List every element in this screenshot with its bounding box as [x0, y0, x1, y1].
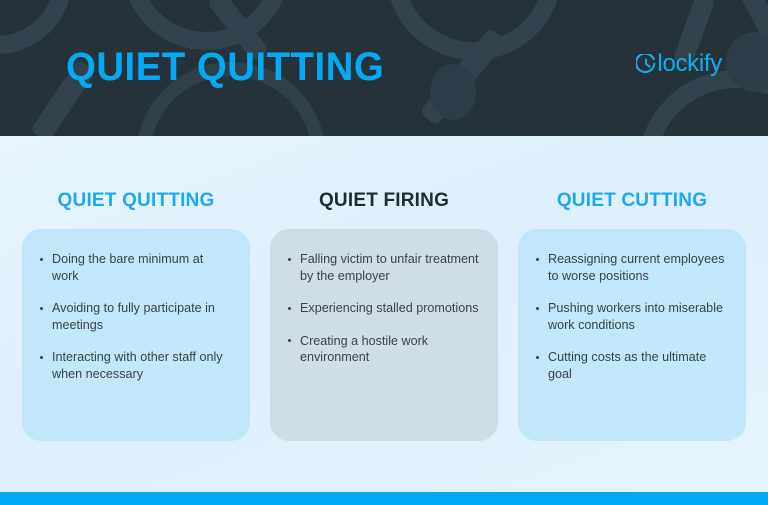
bullet-list-quiet-quitting: Doing the bare minimum at work Avoiding … — [39, 251, 233, 382]
column-title-quiet-firing: QUIET FIRING — [270, 182, 498, 220]
list-item-text: Avoiding to fully participate in meeting… — [52, 301, 215, 332]
list-item: Cutting costs as the ultimate goal — [535, 349, 729, 382]
list-item-text: Reassigning current employees to worse p… — [548, 252, 724, 283]
decor-dot-left — [430, 64, 476, 120]
column-title-quiet-quitting: QUIET QUITTING — [22, 182, 250, 220]
bullet-dot-icon — [288, 258, 291, 261]
list-item: Experiencing stalled promotions — [287, 300, 481, 317]
bullet-dot-icon — [536, 307, 539, 310]
decor-ring-left — [0, 0, 72, 54]
main-content: QUIET QUITTING Doing the bare minimum at… — [0, 136, 768, 492]
bullet-dot-icon — [288, 339, 291, 342]
columns-container: QUIET QUITTING Doing the bare minimum at… — [0, 136, 768, 446]
column-quiet-quitting: QUIET QUITTING Doing the bare minimum at… — [22, 136, 250, 446]
column-title-quiet-cutting: QUIET CUTTING — [518, 182, 746, 220]
list-item: Pushing workers into miserable work cond… — [535, 300, 729, 333]
list-item-text: Pushing workers into miserable work cond… — [548, 301, 723, 332]
bullet-list-quiet-firing: Falling victim to unfair treatment by th… — [287, 251, 481, 366]
card-quiet-quitting: Doing the bare minimum at work Avoiding … — [22, 229, 250, 441]
list-item: Creating a hostile work environment — [287, 333, 481, 366]
clockify-logo-text: lockify — [657, 52, 722, 76]
card-quiet-cutting: Reassigning current employees to worse p… — [518, 229, 746, 441]
list-item-text: Cutting costs as the ultimate goal — [548, 350, 706, 381]
bullet-dot-icon — [40, 356, 43, 359]
bullet-dot-icon — [536, 258, 539, 261]
list-item-text: Falling victim to unfair treatment by th… — [300, 252, 478, 283]
column-quiet-firing: QUIET FIRING Falling victim to unfair tr… — [270, 136, 498, 446]
bullet-dot-icon — [288, 307, 291, 310]
column-quiet-cutting: QUIET CUTTING Reassigning current employ… — [518, 136, 746, 446]
bullet-dot-icon — [536, 356, 539, 359]
list-item-text: Doing the bare minimum at work — [52, 252, 203, 283]
card-quiet-firing: Falling victim to unfair treatment by th… — [270, 229, 498, 441]
list-item-text: Interacting with other staff only when n… — [52, 350, 223, 381]
page-title: QUIET QUITTING — [66, 44, 384, 90]
clockify-logo[interactable]: lockify — [636, 52, 722, 76]
list-item-text: Creating a hostile work environment — [300, 334, 428, 365]
clock-c-icon — [636, 54, 656, 74]
header-banner: QUIET QUITTING lockify — [0, 0, 768, 136]
decor-ring-center-top — [122, 0, 290, 50]
bullet-list-quiet-cutting: Reassigning current employees to worse p… — [535, 251, 729, 382]
list-item: Avoiding to fully participate in meeting… — [39, 300, 233, 333]
bullet-dot-icon — [40, 307, 43, 310]
list-item: Reassigning current employees to worse p… — [535, 251, 729, 284]
list-item: Doing the bare minimum at work — [39, 251, 233, 284]
list-item-text: Experiencing stalled promotions — [300, 301, 479, 315]
list-item: Interacting with other staff only when n… — [39, 349, 233, 382]
footer-accent-bar — [0, 492, 768, 505]
list-item: Falling victim to unfair treatment by th… — [287, 251, 481, 284]
bullet-dot-icon — [40, 258, 43, 261]
